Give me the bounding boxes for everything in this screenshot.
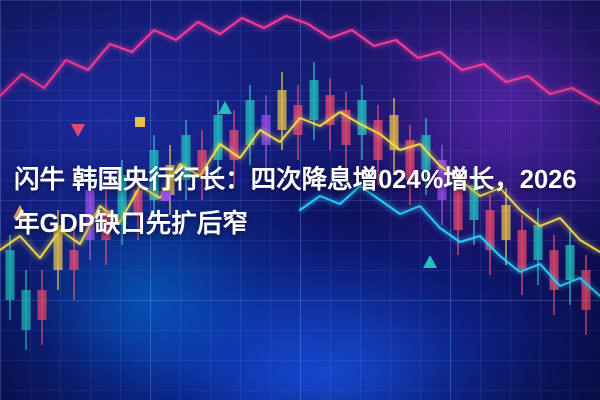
headline-text: 闪牛 韩国央行行长：四次降息增024%增长，2026年GDP缺口先扩后窄 (0, 158, 600, 246)
image-canvas: 闪牛 韩国央行行长：四次降息增024%增长，2026年GDP缺口先扩后窄 (0, 0, 600, 400)
